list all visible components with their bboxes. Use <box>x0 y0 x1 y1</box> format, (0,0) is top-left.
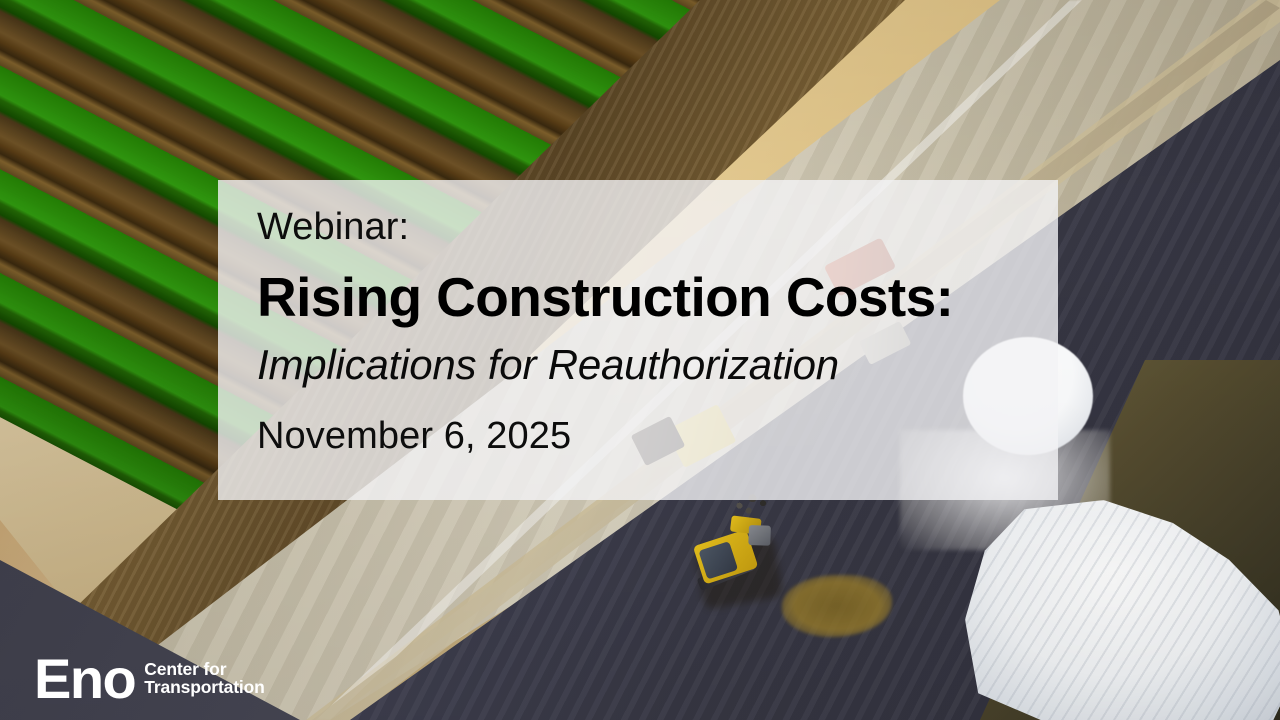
logo-tagline-line1: Center for <box>144 660 264 679</box>
page-title: Rising Construction Costs: <box>257 267 1018 328</box>
webinar-eyebrow-label: Webinar: <box>257 206 1018 250</box>
title-card: Webinar: Rising Construction Costs: Impl… <box>218 180 1058 500</box>
logo-tagline-line2: Transportation <box>144 678 264 697</box>
page-subtitle: Implications for Reauthorization <box>257 341 1018 388</box>
webinar-title-slide: Webinar: Rising Construction Costs: Impl… <box>0 0 1280 720</box>
excavator-bucket <box>748 525 771 546</box>
logo-wordmark: Eno <box>34 656 135 702</box>
event-date: November 6, 2025 <box>257 415 1018 459</box>
eno-logo: Eno Center for Transportation <box>34 656 265 702</box>
logo-tagline: Center for Transportation <box>144 660 264 702</box>
